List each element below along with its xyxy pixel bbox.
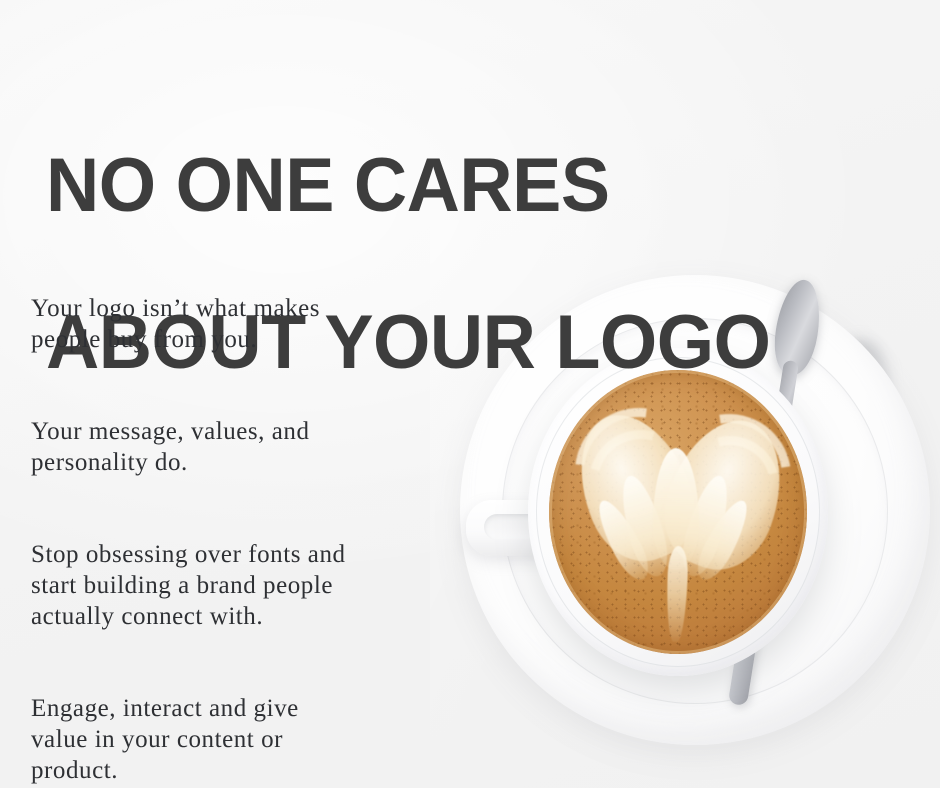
body-paragraph-3: Stop obsessing over fonts and start buil… (31, 539, 481, 632)
poster-canvas: NO ONE CARES ABOUT YOUR LOGO Your logo i… (0, 0, 940, 788)
headline-line-1: NO ONE CARES (46, 147, 880, 225)
body-copy: Your logo isn’t what makes people buy fr… (31, 262, 481, 788)
body-paragraph-2: Your message, values, and personality do… (31, 416, 481, 478)
body-paragraph-1: Your logo isn’t what makes people buy fr… (31, 293, 481, 355)
body-paragraph-4: Engage, interact and give value in your … (31, 693, 481, 786)
